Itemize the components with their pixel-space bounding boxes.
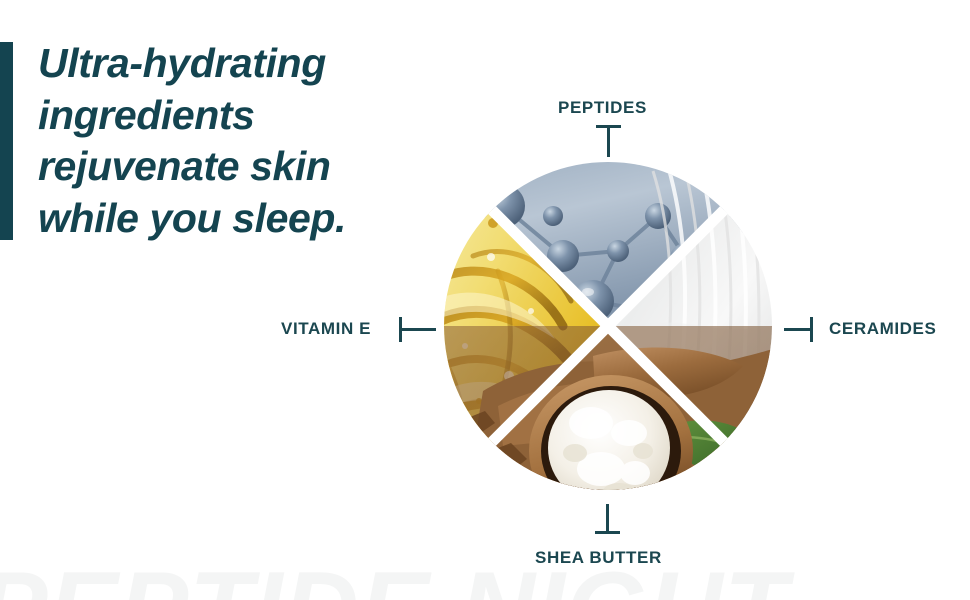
ingredient-wheel (443, 161, 773, 491)
watermark-line-1: PEPTIDE NIGHT (0, 561, 970, 600)
label-peptides[interactable]: PEPTIDES (558, 98, 647, 118)
label-shea-butter[interactable]: SHEA BUTTER (535, 548, 662, 568)
headline-line-1: Ultra-hydrating (38, 38, 428, 90)
label-ceramides[interactable]: CERAMIDES (829, 319, 936, 339)
quadrant-shea-butter (443, 326, 773, 491)
headline-line-4: while you sleep. (38, 193, 428, 245)
headline-line-3: rejuvenate skin (38, 141, 428, 193)
ingredient-wheel-svg (443, 161, 773, 491)
headline-line-2: ingredients (38, 90, 428, 142)
label-vitamin-e[interactable]: VITAMIN E (281, 319, 371, 339)
ingredient-infographic: PEPTIDE NIGHT CREAM Ultra-hydrating ingr… (0, 0, 970, 600)
accent-bar (0, 42, 13, 240)
page-title: Ultra-hydrating ingredients rejuvenate s… (38, 38, 428, 245)
